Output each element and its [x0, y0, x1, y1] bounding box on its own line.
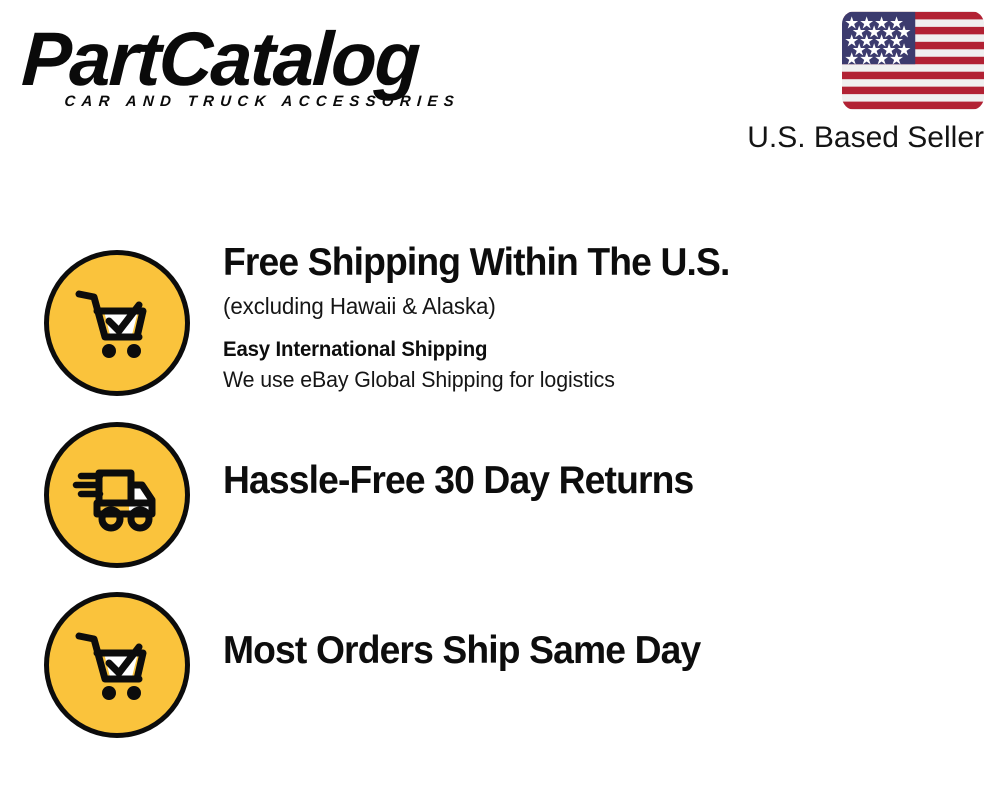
brand-tagline: CAR AND TRUCK ACCESSORIES [64, 94, 461, 110]
feature-headline: Hassle-Free 30 Day Returns [223, 458, 930, 504]
feature-subtext: (excluding Hawaii & Alaska) [223, 290, 941, 322]
brand-wordmark: PartCatalog [20, 22, 420, 98]
feature-note: We use eBay Global Shipping for logistic… [223, 365, 941, 395]
feature-row-returns: Hassle-Free 30 Day Returns [0, 412, 1000, 572]
feature-text-block: Most Orders Ship Same Day [223, 628, 963, 674]
us-based-seller-badge: U.S. Based Seller [724, 11, 984, 159]
feature-text-block: Hassle-Free 30 Day Returns [223, 458, 963, 504]
shopping-cart-check-icon [44, 250, 190, 396]
feature-headline: Free Shipping Within The U.S. [223, 240, 930, 286]
feature-text-block: Free Shipping Within The U.S. (excluding… [223, 240, 963, 395]
brand-logo[interactable]: PartCatalog CAR AND TRUCK ACCESSORIES [24, 22, 494, 117]
feature-secondary-headline: Easy International Shipping [223, 336, 941, 364]
shopping-cart-check-icon [44, 592, 190, 738]
feature-row-free-shipping: Free Shipping Within The U.S. (excluding… [0, 240, 1000, 410]
us-flag-icon [842, 11, 984, 110]
delivery-truck-icon [44, 422, 190, 568]
us-based-seller-label: U.S. Based Seller [747, 119, 984, 157]
feature-headline: Most Orders Ship Same Day [223, 628, 930, 674]
feature-row-same-day-ship: Most Orders Ship Same Day [0, 582, 1000, 742]
page-header: PartCatalog CAR AND TRUCK ACCESSORIES [0, 0, 1000, 175]
